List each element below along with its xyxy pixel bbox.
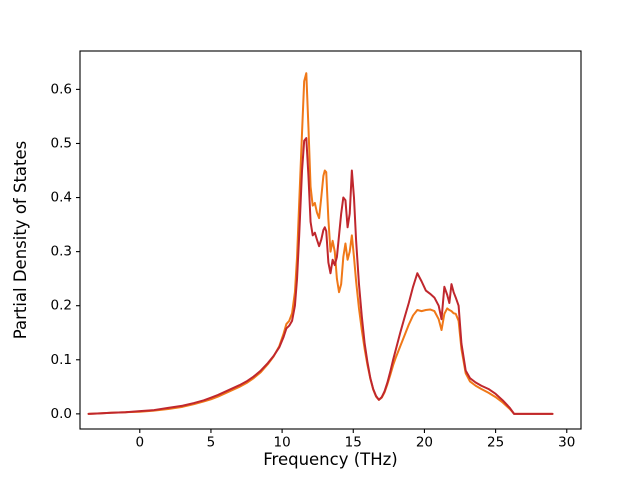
figure-canvas: 0510152025300.00.10.20.30.40.50.6 Freque… <box>0 0 640 480</box>
x-tick-label: 30 <box>558 435 575 451</box>
y-tick-label: 0.0 <box>51 406 72 422</box>
y-tick-label: 0.3 <box>51 244 72 260</box>
x-tick-label: 15 <box>345 435 362 451</box>
y-tick-label: 0.6 <box>51 81 72 97</box>
y-tick-label: 0.2 <box>51 298 72 314</box>
y-tick-label: 0.4 <box>51 190 72 206</box>
x-tick-label: 0 <box>135 435 144 451</box>
x-tick-label: 5 <box>207 435 216 451</box>
y-tick-label: 0.1 <box>51 352 72 368</box>
figure-background <box>0 0 640 480</box>
x-tick-label: 20 <box>416 435 433 451</box>
x-axis-label: Frequency (THz) <box>263 450 398 469</box>
y-tick-label: 0.5 <box>51 135 72 151</box>
x-tick-label: 25 <box>487 435 504 451</box>
y-axis-label: Partial Density of States <box>11 141 30 340</box>
pdos-line-chart: 0510152025300.00.10.20.30.40.50.6 Freque… <box>0 0 640 480</box>
x-tick-label: 10 <box>274 435 291 451</box>
